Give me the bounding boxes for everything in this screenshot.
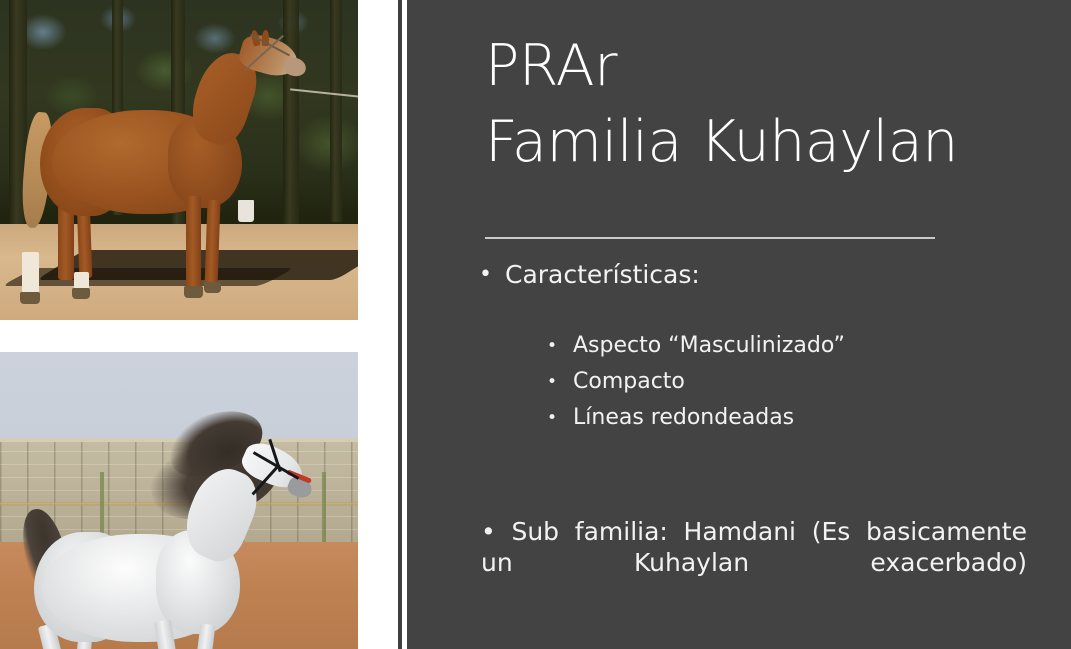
horse-leg <box>186 196 201 290</box>
tree-trunk <box>330 0 342 222</box>
subfamily-paragraph: • Sub familia: Hamdani (Es basicamente u… <box>481 516 1027 609</box>
bullet-dot-icon: • <box>547 328 573 364</box>
slide: PRAr Familia Kuhaylan • Características:… <box>0 0 1071 649</box>
tree-trunk <box>283 0 299 232</box>
horse-hoof <box>204 282 221 293</box>
bullet-list: • Características: • Aspecto “Masculiniz… <box>479 258 1049 436</box>
bullet-dot-icon: • <box>547 364 573 400</box>
horse-hoof <box>72 288 90 299</box>
page-title: PRAr Familia Kuhaylan <box>485 28 1045 180</box>
subfamily-paragraph-text: Sub familia: Hamdani (Es basicamente un … <box>481 517 1027 577</box>
list-item-label: Líneas redondeadas <box>573 400 794 436</box>
horse-hoof <box>20 292 40 304</box>
fence-post <box>322 472 326 552</box>
title-divider <box>485 237 935 239</box>
photo-chestnut-arabian-standing <box>0 0 358 320</box>
title-line-2: Familia Kuhaylan <box>485 104 1045 180</box>
woodland-paddock-scene <box>0 0 358 320</box>
list-item: • Líneas redondeadas <box>547 400 1049 436</box>
bullet-characteristics-label: Características: <box>505 258 700 292</box>
list-item: • Compacto <box>547 364 1049 400</box>
bucket <box>238 200 254 222</box>
list-item: • Aspecto “Masculinizado” <box>547 328 1049 364</box>
photo-grey-arabian-trotting <box>0 352 358 649</box>
list-item-label: Compacto <box>573 364 685 400</box>
horse-shadow <box>1 268 295 286</box>
panel-left-rule <box>398 0 402 649</box>
horse-hoof <box>184 286 203 298</box>
sand-arena-scene <box>0 352 358 649</box>
bullet-dot-icon: • <box>481 517 496 546</box>
list-item-label: Aspecto “Masculinizado” <box>573 328 845 364</box>
lead-rope <box>290 88 358 97</box>
bullet-dot-icon: • <box>547 400 573 436</box>
content-panel: PRAr Familia Kuhaylan • Características:… <box>407 0 1071 649</box>
bullet-sublist: • Aspecto “Masculinizado” • Compacto • L… <box>479 328 1049 436</box>
bullet-characteristics: • Características: <box>479 258 1049 292</box>
title-line-1: PRAr <box>485 28 1045 104</box>
bullet-dot-icon: • <box>479 258 505 292</box>
